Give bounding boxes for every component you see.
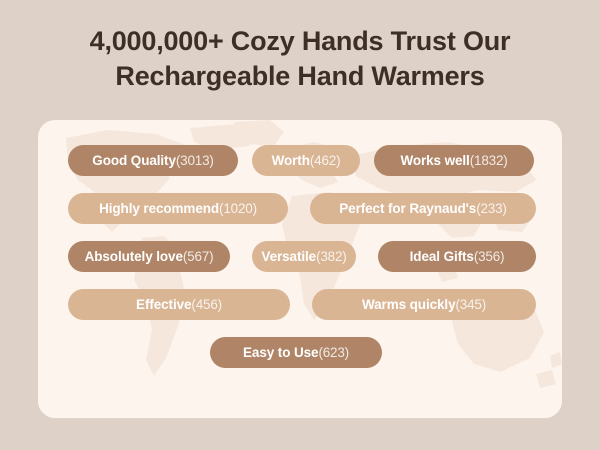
page-title-line-2: Rechargeable Hand Warmers [0, 59, 600, 94]
keyword-tag[interactable]: Warms quickly(345) [312, 289, 536, 320]
keyword-tag-count: (233) [476, 201, 507, 216]
keyword-tag-row: Easy to Use(623) [38, 337, 562, 368]
keyword-tag-count: (623) [318, 345, 349, 360]
keyword-tag-label: Ideal Gifts [410, 249, 474, 264]
keyword-tag-label: Warms quickly [362, 297, 455, 312]
keyword-tag[interactable]: Highly recommend(1020) [68, 193, 288, 224]
keyword-tag[interactable]: Effective(456) [68, 289, 290, 320]
keyword-tag-label: Effective [136, 297, 191, 312]
keyword-tag[interactable]: Good Quality(3013) [68, 145, 238, 176]
keyword-tag[interactable]: Ideal Gifts(356) [378, 241, 536, 272]
keyword-tag[interactable]: Worth(462) [252, 145, 360, 176]
keyword-tag-label: Works well [400, 153, 469, 168]
keyword-tag[interactable]: Absolutely love(567) [68, 241, 230, 272]
keyword-tag[interactable]: Perfect for Raynaud's(233) [310, 193, 536, 224]
keyword-tag-count: (382) [316, 249, 347, 264]
keyword-tag-count: (345) [455, 297, 486, 312]
keyword-tag-count: (456) [191, 297, 222, 312]
keyword-tag-row: Good Quality(3013) Worth(462) Works well… [38, 145, 562, 176]
keyword-tag-row: Effective(456) Warms quickly(345) [38, 289, 562, 320]
keyword-tag[interactable]: Easy to Use(623) [210, 337, 382, 368]
keyword-tag-label: Highly recommend [99, 201, 219, 216]
keyword-tag-count: (1020) [219, 201, 257, 216]
keyword-tag-label: Worth [272, 153, 310, 168]
keyword-tag-label: Good Quality [92, 153, 176, 168]
keyword-tag-label: Perfect for Raynaud's [339, 201, 476, 216]
keyword-tag-count: (462) [310, 153, 341, 168]
page-title: 4,000,000+ Cozy Hands Trust Our Recharge… [0, 24, 600, 94]
keyword-tag-count: (567) [183, 249, 214, 264]
keyword-tag[interactable]: Works well(1832) [374, 145, 534, 176]
review-keywords-card: Good Quality(3013) Worth(462) Works well… [38, 120, 562, 418]
keyword-tag-count: (3013) [176, 153, 214, 168]
keyword-tag-list: Good Quality(3013) Worth(462) Works well… [38, 120, 562, 418]
page-title-line-1: 4,000,000+ Cozy Hands Trust Our [0, 24, 600, 59]
keyword-tag-row: Highly recommend(1020) Perfect for Rayna… [38, 193, 562, 224]
keyword-tag-count: (356) [474, 249, 505, 264]
keyword-tag-label: Versatile [261, 249, 316, 264]
keyword-tag[interactable]: Versatile(382) [252, 241, 356, 272]
keyword-tag-row: Absolutely love(567) Versatile(382) Idea… [38, 241, 562, 272]
keyword-tag-label: Easy to Use [243, 345, 318, 360]
keyword-tag-label: Absolutely love [85, 249, 183, 264]
keyword-tag-count: (1832) [470, 153, 508, 168]
